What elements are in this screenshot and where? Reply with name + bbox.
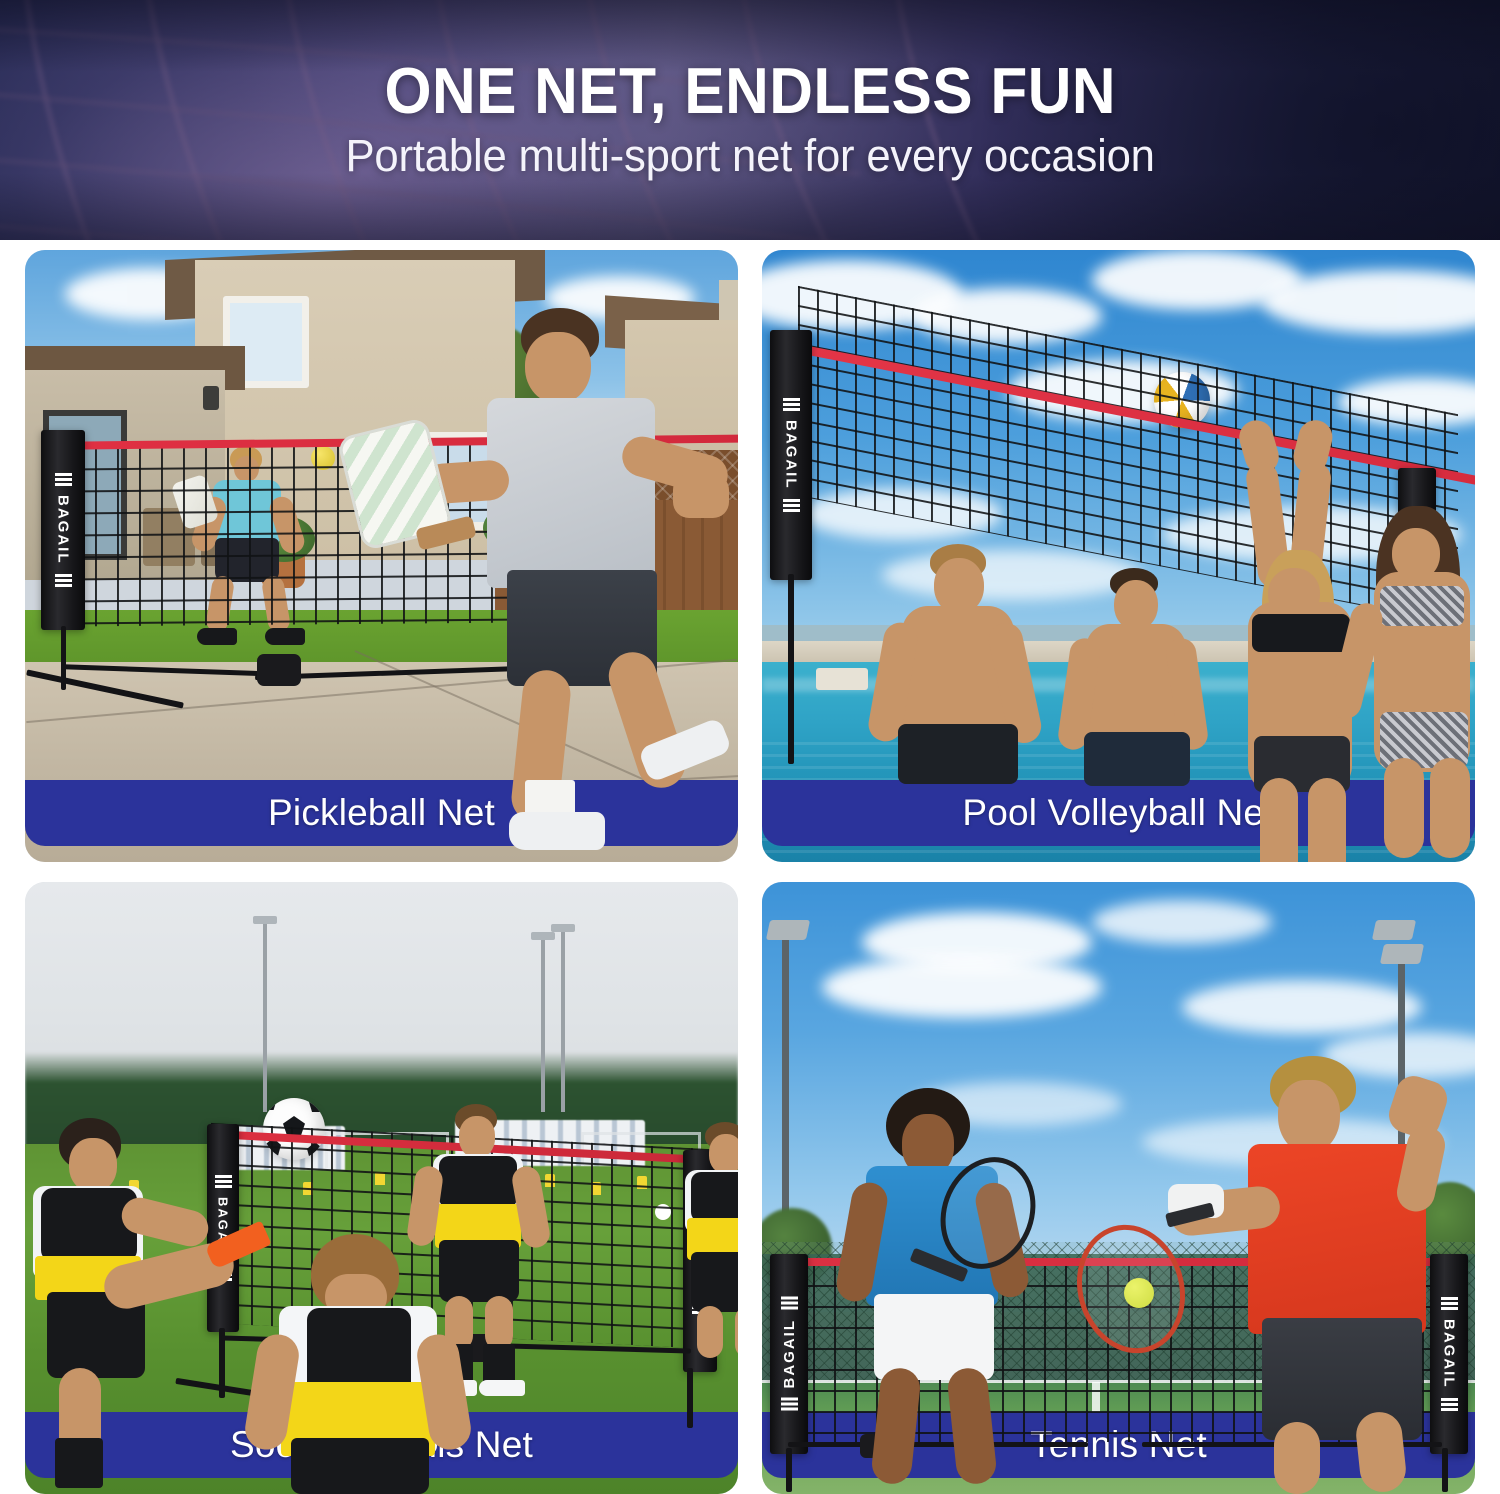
- net-post-left[interactable]: BAGAIL: [770, 1254, 808, 1454]
- training-bib: [691, 1172, 738, 1222]
- brand-logo-text: BAGAIL: [1441, 1297, 1458, 1411]
- training-bib: [439, 1156, 517, 1208]
- net-post-left[interactable]: BAGAIL: [207, 1124, 239, 1332]
- shorts: [691, 1252, 738, 1312]
- cleat: [479, 1380, 525, 1396]
- pool-volleyball-photo: BAGAIL BAGAIL: [762, 250, 1475, 862]
- floodlight-head: [1380, 944, 1424, 964]
- shoe: [265, 628, 305, 645]
- porch-lamp: [203, 386, 219, 410]
- panel-tennis[interactable]: BAGAIL BAGAIL: [762, 882, 1475, 1494]
- panel-pickleball[interactable]: BAGAIL BAGAIL: [25, 250, 738, 862]
- net-post-left[interactable]: BAGAIL: [770, 330, 812, 580]
- floodlight-pole: [782, 926, 789, 1256]
- caption-label: Pickleball Net: [268, 792, 495, 834]
- floodlight-head: [1372, 920, 1416, 940]
- leg: [1430, 758, 1470, 858]
- brand-bars-icon: [55, 473, 72, 486]
- soccer-tennis-photo: BAGAIL BAGAIL: [25, 882, 738, 1494]
- leg: [697, 1306, 723, 1358]
- floodlight-mast: [561, 930, 565, 1112]
- polo-shirt: [1248, 1144, 1426, 1334]
- brand-bars-icon: [783, 398, 800, 411]
- shorts: [291, 1438, 429, 1494]
- cloud: [882, 550, 1142, 600]
- shirt: [487, 398, 655, 588]
- shoe: [509, 812, 605, 850]
- banner-title: ONE NET, ENDLESS FUN: [384, 58, 1115, 124]
- brand-bars-icon: [1441, 1297, 1458, 1310]
- hero-banner: ONE NET, ENDLESS FUN Portable multi-spor…: [0, 0, 1500, 240]
- head: [459, 1116, 495, 1158]
- net-leg-pole: [786, 1448, 792, 1492]
- product-use-case-grid: BAGAIL BAGAIL: [25, 250, 1475, 1494]
- bikini-top: [1252, 614, 1350, 652]
- net-hub-clamp: [257, 654, 301, 686]
- panel-soccer-tennis[interactable]: BAGAIL BAGAIL: [25, 882, 738, 1494]
- brand-logo-text: BAGAIL: [783, 398, 800, 512]
- leg: [1260, 778, 1298, 862]
- bikini-top: [1380, 586, 1464, 626]
- floodlight-mast: [541, 938, 545, 1112]
- cloud: [1182, 980, 1422, 1034]
- pickleball-photo: BAGAIL BAGAIL: [25, 250, 738, 862]
- chimney: [719, 280, 738, 320]
- cloud: [822, 956, 1102, 1018]
- brand-logo-text: BAGAIL: [781, 1297, 798, 1411]
- brand-logo-text: BAGAIL: [55, 473, 72, 587]
- training-bib: [41, 1188, 137, 1262]
- brand-name: BAGAIL: [781, 1319, 798, 1389]
- net-leg-pole: [788, 574, 794, 764]
- brand-name: BAGAIL: [55, 495, 72, 565]
- brand-bars-icon: [1441, 1398, 1458, 1411]
- head: [69, 1138, 117, 1192]
- shorts: [874, 1294, 994, 1380]
- net-leg-pole: [1442, 1448, 1448, 1492]
- floodlight-head: [531, 932, 555, 940]
- leg: [1384, 758, 1424, 858]
- swim-trunks: [898, 724, 1018, 784]
- leg: [735, 1306, 738, 1358]
- net-post-right[interactable]: BAGAIL: [1430, 1254, 1468, 1454]
- brand-bars-icon: [783, 499, 800, 512]
- leg: [1274, 1422, 1320, 1494]
- banner-text-block: ONE NET, ENDLESS FUN Portable multi-spor…: [0, 0, 1500, 240]
- brand-bars-icon: [55, 574, 72, 587]
- head: [709, 1134, 738, 1174]
- pool-skimmer: [816, 668, 868, 690]
- swim-trunks: [1084, 732, 1190, 786]
- net-post-left[interactable]: BAGAIL: [41, 430, 85, 630]
- panel-caption-pool-volleyball: Pool Volleyball Net: [762, 780, 1475, 846]
- head: [1278, 1080, 1340, 1154]
- net-leg-pole: [687, 1368, 693, 1428]
- leg: [1308, 778, 1346, 862]
- brand-name: BAGAIL: [783, 420, 800, 490]
- floodlight-head: [551, 924, 575, 932]
- shoe: [197, 628, 237, 645]
- floodlight-head: [766, 920, 810, 940]
- head: [1114, 580, 1158, 630]
- brand-bars-icon: [215, 1175, 232, 1188]
- caption-label: Pool Volleyball Net: [962, 792, 1274, 834]
- brand-bars-icon: [781, 1398, 798, 1411]
- shorts: [439, 1240, 519, 1302]
- hand: [673, 474, 729, 518]
- brand-name: BAGAIL: [1441, 1319, 1458, 1389]
- brand-bars-icon: [781, 1297, 798, 1310]
- floodlight-mast: [263, 922, 267, 1112]
- leg: [485, 1296, 513, 1350]
- head: [525, 332, 591, 404]
- floodlight-head: [253, 916, 277, 924]
- panel-caption-pickleball: Pickleball Net: [25, 780, 738, 846]
- cloud: [1092, 900, 1272, 944]
- ball-pentagon: [263, 1098, 277, 1110]
- tennis-photo: BAGAIL BAGAIL: [762, 882, 1475, 1494]
- panel-pool-volleyball[interactable]: BAGAIL BAGAIL: [762, 250, 1475, 862]
- banner-subtitle: Portable multi-sport net for every occas…: [345, 130, 1154, 182]
- net-base-bar: [788, 1442, 1088, 1447]
